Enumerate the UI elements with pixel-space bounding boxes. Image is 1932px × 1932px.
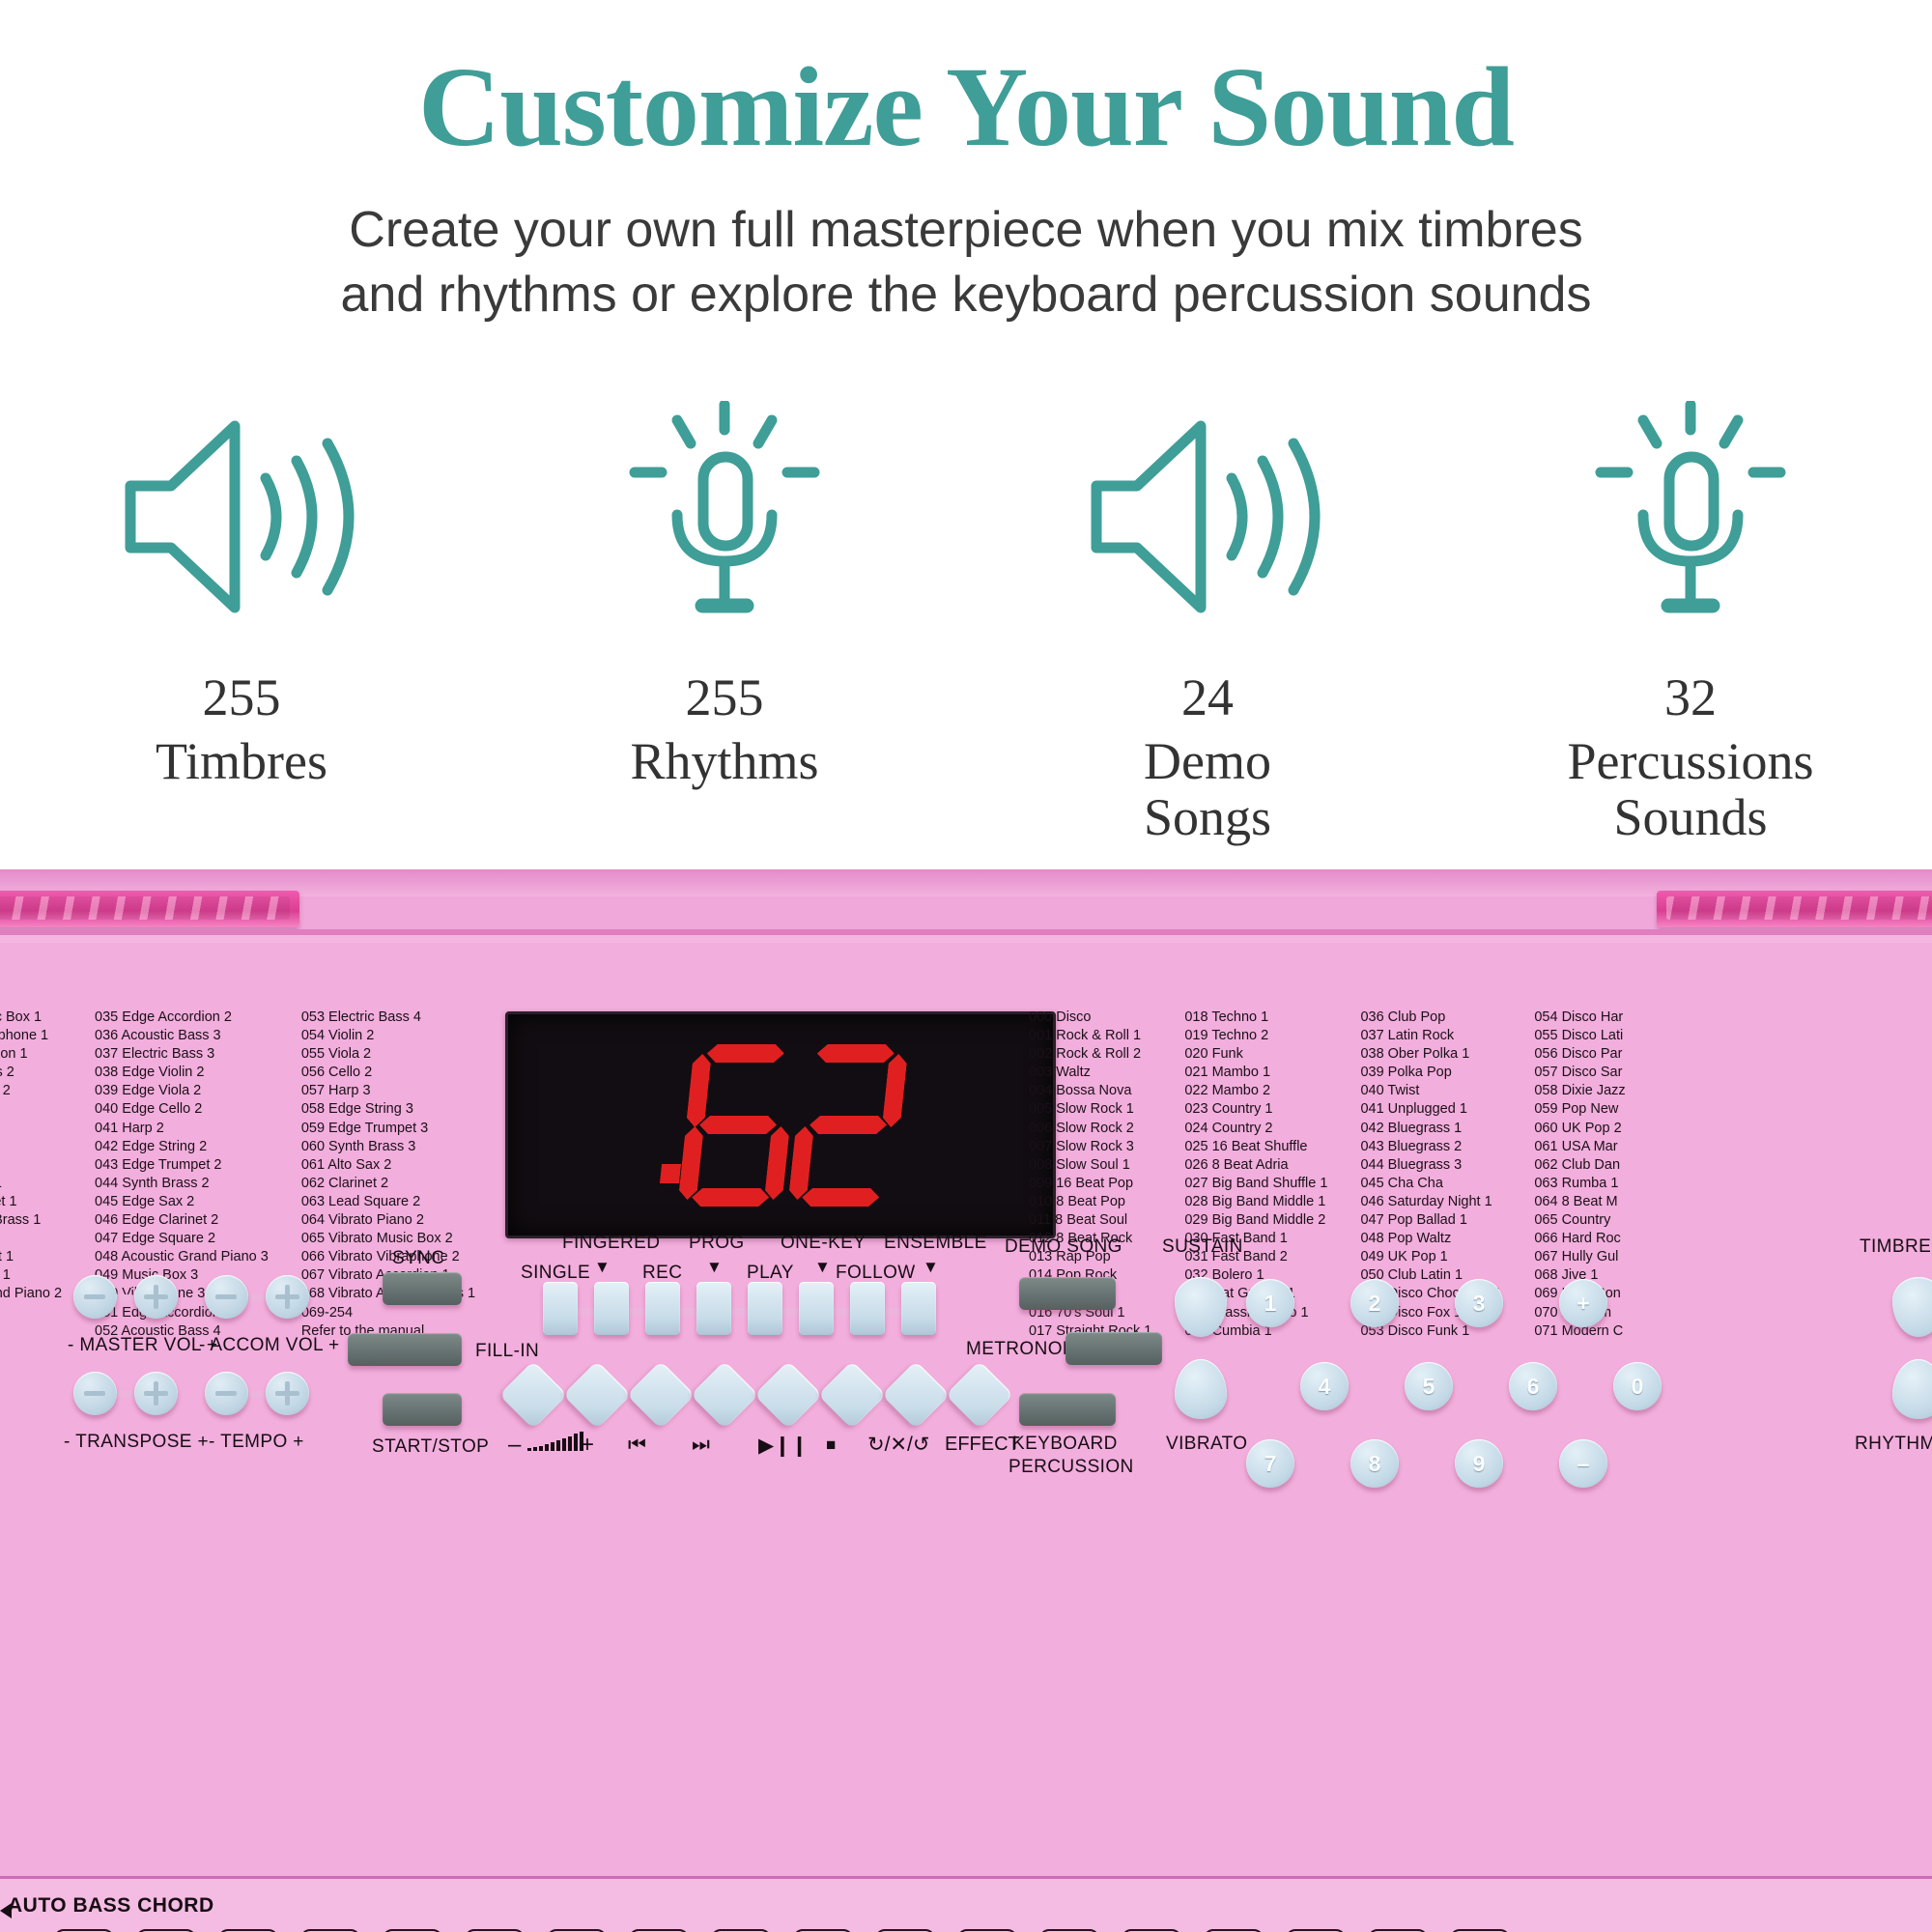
rhythm-list-item: 006 Slow Rock 2: [1029, 1120, 1151, 1138]
timbre-list-item: 047 Edge Square 2: [95, 1230, 269, 1248]
rhythm-list-item: 065 Country: [1534, 1211, 1625, 1230]
chevron-down-icon: ▼: [594, 1258, 611, 1277]
rhythm-list-item: 046 Saturday Night 1: [1360, 1193, 1501, 1211]
rhythm-list-item: 027 Big Band Shuffle 1: [1184, 1175, 1327, 1193]
timbre-list-item: 043 Edge Trumpet 2: [95, 1156, 269, 1175]
rhythm-list-item: 062 Club Dan: [1534, 1156, 1625, 1175]
rhythm-list-item: 018 Techno 1: [1184, 1009, 1327, 1027]
rhythm-list-item: 066 Hard Roc: [1534, 1230, 1625, 1248]
timbre-list-item: String 1: [0, 1175, 62, 1193]
timbre-list-item: 060 Synth Brass 3: [301, 1138, 475, 1156]
fingered-label: FINGERED: [562, 1233, 660, 1254]
numpad-key-0[interactable]: 0: [1613, 1362, 1662, 1410]
rhythm-list-item: 037 Latin Rock: [1360, 1027, 1501, 1045]
rhythm-button[interactable]: [1892, 1359, 1932, 1419]
timbre-list-item: 054 Violin 2: [301, 1027, 475, 1045]
follow-label: FOLLOW: [836, 1263, 916, 1284]
rhythm-list-item: 041 Unplugged 1: [1360, 1100, 1501, 1119]
rhythm-list-item: 054 Disco Har: [1534, 1009, 1625, 1027]
prog-button[interactable]: [696, 1282, 731, 1335]
sustain-button[interactable]: [1175, 1277, 1227, 1337]
page-subtitle: Create your own full masterpiece when yo…: [0, 198, 1932, 327]
numpad-key-7[interactable]: 7: [1246, 1439, 1294, 1488]
rhythm-list-item: 010 8 Beat Pop: [1029, 1193, 1151, 1211]
auto-bass-chord-strip: AUTO BASS CHORD ♫♫♩✋◉◯♪✐♫♩✋◉◯♪✐♫♩✋: [0, 1876, 1932, 1932]
lcd-segment-e: [788, 1126, 814, 1200]
rhythm-list-item: 007 Slow Rock 3: [1029, 1138, 1151, 1156]
numpad-key-3[interactable]: 3: [1455, 1279, 1503, 1327]
page-root: Customize Your Sound Create your own ful…: [0, 0, 1932, 1932]
rhythm-list-item: 056 Disco Par: [1534, 1045, 1625, 1064]
demo-song-label: DEMO SONG: [1005, 1236, 1122, 1258]
timbre-list-item: 037 Electric Bass 3: [95, 1045, 269, 1064]
timbre-list-item: Cello 1: [0, 1138, 62, 1156]
follow-button[interactable]: [850, 1282, 885, 1335]
timbre-list-item: 064 Vibrato Piano 2: [301, 1211, 475, 1230]
rhythm-list-item: 011 8 Beat Soul: [1029, 1211, 1151, 1230]
keyboard-handle-right: [1657, 891, 1932, 927]
numpad-key-5[interactable]: 5: [1405, 1362, 1453, 1410]
rhythm-list-item: 060 UK Pop 2: [1534, 1120, 1625, 1138]
rhythm-list-item: 042 Bluegrass 1: [1360, 1120, 1501, 1138]
stat-label: Rhythms: [630, 733, 818, 789]
numpad-key-minus[interactable]: –: [1559, 1439, 1607, 1488]
stat-label: Timbres: [156, 733, 327, 789]
rhythm-list-item: 026 8 Beat Adria: [1184, 1156, 1327, 1175]
lcd-segment-a: [816, 1044, 895, 1063]
hero-section: Customize Your Sound Create your own ful…: [0, 0, 1932, 869]
stat-label: Demo Songs: [1144, 733, 1271, 846]
fill-in-button[interactable]: [348, 1333, 462, 1366]
speaker-waves-icon: [1087, 386, 1328, 647]
lcd-segment-c: [764, 1126, 790, 1200]
timbre-list-item: o Music Box 1: [0, 1009, 62, 1027]
stat-demo-songs: 24 Demo Songs: [966, 386, 1449, 845]
rhythm-list-item: 001 Rock & Roll 1: [1029, 1027, 1151, 1045]
effect-button[interactable]: [946, 1361, 1014, 1430]
play-button[interactable]: [748, 1282, 782, 1335]
timbre-list-item: 058 Edge String 3: [301, 1100, 475, 1119]
single-button[interactable]: [543, 1282, 578, 1335]
pad-bridge: [114, 1294, 134, 1301]
rhythm-list-item: 048 Pop Waltz: [1360, 1230, 1501, 1248]
metronome-button[interactable]: [1065, 1332, 1162, 1365]
sustain-label: SUSTAIN: [1162, 1236, 1243, 1258]
rhythm-list-item: 040 Twist: [1360, 1082, 1501, 1100]
start-stop-button[interactable]: [383, 1393, 462, 1426]
stat-number: 255: [203, 670, 281, 725]
sync-label: SYNC: [392, 1248, 444, 1269]
timbre-list-item: 035 Edge Accordion 2: [95, 1009, 269, 1027]
timbre-list-item: tic Bass 2: [0, 1064, 62, 1082]
rec-button[interactable]: [645, 1282, 680, 1335]
auto-bass-chord-label: AUTO BASS CHORD: [8, 1894, 214, 1918]
stat-label-line-1: Timbres: [156, 733, 327, 789]
accomp-volume-down-button[interactable]: [205, 1275, 248, 1319]
lcd-segment-a: [706, 1044, 785, 1063]
timbre-list-item: 046 Edge Clarinet 2: [95, 1211, 269, 1230]
timbre-list-item: 059 Edge Trumpet 3: [301, 1120, 475, 1138]
rhythm-list-item: 022 Mambo 2: [1184, 1082, 1327, 1100]
timbre-list-item: o Vibraphone 1: [0, 1027, 62, 1045]
rhythm-list-item: 064 8 Beat M: [1534, 1193, 1625, 1211]
lcd-segment-d: [801, 1188, 880, 1207]
transpose-label: - TRANSPOSE +: [64, 1432, 209, 1453]
repeat-mode-button[interactable]: [882, 1361, 951, 1430]
pad-bridge: [245, 1391, 266, 1398]
timbre-list-item: 036 Acoustic Bass 3: [95, 1027, 269, 1045]
stat-number: 255: [686, 670, 764, 725]
rhythm-list-item: 063 Rumba 1: [1534, 1175, 1625, 1193]
keyboard-control-panel: o Music Box 1o Vibraphone 1Accordion 1ti…: [0, 929, 1932, 1932]
lcd-digits: [508, 1014, 1053, 1236]
timbre-list-item: Sax 1: [0, 1230, 62, 1248]
numpad-key-8[interactable]: 8: [1350, 1439, 1399, 1488]
subtitle-line-1: Create your own full masterpiece when yo…: [0, 198, 1932, 263]
minus-icon: –: [508, 1432, 521, 1459]
stat-timbres: 255 Timbres: [0, 386, 483, 845]
stat-label-line-1: Rhythms: [630, 733, 818, 789]
rhythm-list-item: 004 Bossa Nova: [1029, 1082, 1151, 1100]
keyboard-percussion-button[interactable]: [1019, 1393, 1116, 1426]
timbre-list-item: Trumpet 1: [0, 1193, 62, 1211]
tempo-label: - TEMPO +: [209, 1432, 304, 1453]
timbre-list-item: 039 Edge Viola 2: [95, 1082, 269, 1100]
rhythm-list-item: 020 Funk: [1184, 1045, 1327, 1064]
rhythm-list-item: 045 Cha Cha: [1360, 1175, 1501, 1193]
timbre-list-item: 042 Edge String 2: [95, 1138, 269, 1156]
rec-label: REC: [642, 1263, 682, 1284]
chevron-down-icon: ▼: [706, 1258, 723, 1277]
timbre-list-item: Violin 1: [0, 1100, 62, 1119]
timbre-list-item: 040 Edge Cello 2: [95, 1100, 269, 1119]
timbre-button[interactable]: [1892, 1277, 1932, 1337]
timbre-list-item: Synth Brass 1: [0, 1211, 62, 1230]
stat-label-line-2: Sounds: [1568, 789, 1814, 845]
timbre-list-item: 044 Synth Brass 2: [95, 1175, 269, 1193]
rhythm-list-item: 057 Disco Sar: [1534, 1064, 1625, 1082]
lcd-segment-g: [698, 1116, 778, 1134]
start-stop-label: START/STOP: [372, 1436, 489, 1458]
keyboard-product-photo: o Music Box 1o Vibraphone 1Accordion 1ti…: [0, 869, 1932, 1932]
rhythm-list-item: 029 Big Band Middle 2: [1184, 1211, 1327, 1230]
volume-up-button[interactable]: [563, 1361, 632, 1430]
pad-bridge: [114, 1391, 134, 1398]
fill-in-label: FILL-IN: [475, 1341, 539, 1362]
lcd-segment-b: [882, 1054, 908, 1127]
rhythm-list-item: 039 Polka Pop: [1360, 1064, 1501, 1082]
stat-rhythms: 255 Rhythms: [483, 386, 966, 845]
chevron-down-icon: ▼: [814, 1258, 831, 1277]
lcd-segment-f: [686, 1054, 712, 1127]
timbre-list-item: 041 Harp 2: [95, 1120, 269, 1138]
numpad-key-plus[interactable]: +: [1559, 1279, 1607, 1327]
stat-label-line-2: Songs: [1144, 789, 1271, 845]
next-track-icon: ⏭: [692, 1434, 710, 1457]
rhythm-list-item: 043 Bluegrass 2: [1360, 1138, 1501, 1156]
microphone-icon: [613, 386, 836, 647]
play-pause-icon: ▶❙❙: [758, 1434, 808, 1458]
microphone-icon: [1579, 386, 1802, 647]
one-key-button[interactable]: [799, 1282, 834, 1335]
lcd-decimal-point: [660, 1164, 681, 1183]
timbre-list-item: 061 Alto Sax 2: [301, 1156, 475, 1175]
stat-label: Percussions Sounds: [1568, 733, 1814, 846]
fingered-button[interactable]: [594, 1282, 629, 1335]
tempo-down-button[interactable]: [205, 1372, 248, 1415]
keyboard-percussion-label-line-1: KEYBOARD: [1012, 1434, 1118, 1455]
tempo-up-button[interactable]: [266, 1372, 309, 1415]
rhythm-list-item: 038 Ober Polka 1: [1360, 1045, 1501, 1064]
rhythm-list-item: 021 Mambo 1: [1184, 1064, 1327, 1082]
rhythm-list-item: 025 16 Beat Shuffle: [1184, 1138, 1327, 1156]
stop-button[interactable]: [818, 1361, 887, 1430]
page-title: Customize Your Sound: [0, 50, 1932, 164]
lcd-digit: [677, 1044, 799, 1207]
timbre-list-item: ic Bass 2: [0, 1082, 62, 1100]
lcd-segment-g: [809, 1116, 888, 1134]
rhythm-list-item: 055 Disco Lati: [1534, 1027, 1625, 1045]
lcd-segment-d: [691, 1188, 770, 1207]
rhythm-list-item: 000 Disco: [1029, 1009, 1151, 1027]
volume-ramp-icon: [527, 1432, 583, 1451]
sync-button[interactable]: [383, 1272, 462, 1305]
stat-percussion-sounds: 32 Percussions Sounds: [1449, 386, 1932, 845]
ensemble-button[interactable]: [901, 1282, 936, 1335]
timbre-list-item: 056 Cello 2: [301, 1064, 475, 1082]
transpose-up-button[interactable]: [134, 1372, 178, 1415]
timbre-list-item: 062 Clarinet 2: [301, 1175, 475, 1193]
rhythm-list-item: 061 USA Mar: [1534, 1138, 1625, 1156]
prog-label: PROG: [689, 1233, 745, 1254]
stat-number: 24: [1181, 670, 1234, 725]
numpad-key-4[interactable]: 4: [1300, 1362, 1349, 1410]
numpad-key-6[interactable]: 6: [1509, 1362, 1557, 1410]
previous-track-icon: ⏮: [628, 1434, 646, 1457]
rhythm-list-item: 002 Rock & Roll 2: [1029, 1045, 1151, 1064]
demo-song-button[interactable]: [1019, 1277, 1116, 1310]
timbre-list-item: 055 Viola 2: [301, 1045, 475, 1064]
subtitle-line-2: and rhythms or explore the keyboard perc…: [0, 263, 1932, 327]
master-volume-down-button[interactable]: [73, 1275, 117, 1319]
timbre-label: TIMBRE: [1860, 1236, 1931, 1258]
numpad-key-9[interactable]: 9: [1455, 1439, 1503, 1488]
stop-icon: ■: [826, 1435, 836, 1455]
rhythm-list-item: 009 16 Beat Pop: [1029, 1175, 1151, 1193]
transpose-down-button[interactable]: [73, 1372, 117, 1415]
timbre-list-item: 053 Electric Bass 4: [301, 1009, 475, 1027]
effect-label: EFFECT: [945, 1434, 1020, 1456]
accomp-volume-up-button[interactable]: [266, 1275, 309, 1319]
lcd-digit: [787, 1044, 909, 1207]
timbre-list-item: 057 Harp 3: [301, 1082, 475, 1100]
rhythm-list-item: 023 Country 1: [1184, 1100, 1327, 1119]
timbre-list-item: 1: [0, 1156, 62, 1175]
timbre-list-item: 065 Vibrato Music Box 2: [301, 1230, 475, 1248]
rhythm-list-item: 028 Big Band Middle 1: [1184, 1193, 1327, 1211]
stat-label-line-1: Percussions: [1568, 733, 1814, 789]
stat-label-line-1: Demo: [1144, 733, 1271, 789]
numpad-key-2[interactable]: 2: [1350, 1279, 1399, 1327]
rhythm-list-item: 044 Bluegrass 3: [1360, 1156, 1501, 1175]
play-label: PLAY: [747, 1263, 794, 1284]
rhythm-list-item: 003 Waltz: [1029, 1064, 1151, 1082]
rhythm-list-item: 059 Pop New: [1534, 1100, 1625, 1119]
rhythm-list-item: 047 Pop Ballad 1: [1360, 1211, 1501, 1230]
rhythm-list-item: 024 Country 2: [1184, 1120, 1327, 1138]
rhythm-list-item: 008 Slow Soul 1: [1029, 1156, 1151, 1175]
keyboard-handle-left: [0, 891, 299, 927]
pad-bridge: [245, 1294, 266, 1301]
accomp-volume-label: - ACCOM VOL +: [199, 1335, 339, 1356]
rhythm-list-item: 058 Dixie Jazz: [1534, 1082, 1625, 1100]
ensemble-label: ENSEMBLE: [884, 1233, 987, 1254]
one-key-label: ONE-KEY: [781, 1233, 866, 1254]
vibrato-label: VIBRATO: [1166, 1434, 1247, 1455]
timbre-list-item: 063 Lead Square 2: [301, 1193, 475, 1211]
lcd-display: [505, 1011, 1056, 1238]
numpad-key-1[interactable]: 1: [1246, 1279, 1294, 1327]
plus-icon: +: [581, 1432, 594, 1459]
previous-track-button[interactable]: [627, 1361, 696, 1430]
repeat-modes-icon: ↻/✕/↺: [867, 1433, 929, 1457]
keyboard-percussion-label-line-2: PERCUSSION: [1009, 1457, 1134, 1478]
lcd-segment-e: [678, 1126, 704, 1200]
next-track-button[interactable]: [691, 1361, 759, 1430]
stat-number: 32: [1664, 670, 1717, 725]
chevron-down-icon: ▼: [923, 1258, 939, 1277]
feature-stats: 255 Timbres: [0, 386, 1932, 845]
play-pause-button[interactable]: [754, 1361, 823, 1430]
vibrato-button[interactable]: [1175, 1359, 1227, 1419]
single-label: SINGLE: [521, 1263, 590, 1284]
volume-down-button[interactable]: [499, 1361, 568, 1430]
rhythm-label: RHYTHM: [1855, 1434, 1932, 1455]
timbre-list-item: Viola 1: [0, 1120, 62, 1138]
speaker-waves-icon: [121, 386, 362, 647]
master-volume-up-button[interactable]: [134, 1275, 178, 1319]
timbre-list-item: 038 Edge Violin 2: [95, 1064, 269, 1082]
timbre-list-item: 045 Edge Sax 2: [95, 1193, 269, 1211]
rhythm-list-item: 019 Techno 2: [1184, 1027, 1327, 1045]
timbre-list-item: Accordion 1: [0, 1045, 62, 1064]
button-panel: - MASTER VOL + - ACCOM VOL + - TRANSPOSE…: [0, 1258, 1932, 1548]
rhythm-list-item: 005 Slow Rock 1: [1029, 1100, 1151, 1119]
master-volume-label: - MASTER VOL +: [68, 1335, 217, 1356]
rhythm-list-item: 036 Club Pop: [1360, 1009, 1501, 1027]
